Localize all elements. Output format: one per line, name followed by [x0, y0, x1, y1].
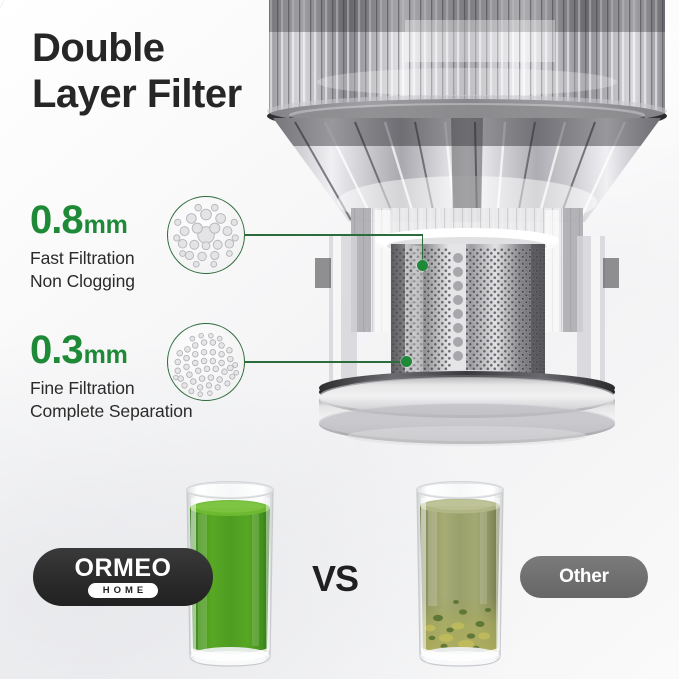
- page-title: Double Layer Filter: [32, 25, 242, 118]
- leader-dot-fine: [401, 356, 412, 367]
- glass-other-juice: [408, 478, 512, 673]
- vs-label: VS: [312, 558, 358, 600]
- spec-block-coarse: 0.8mm Fast Filtration Non Clogging: [30, 200, 135, 293]
- infographic-canvas: Double Layer Filter 0.8mm Fast Filtratio…: [0, 0, 679, 679]
- spec-description-coarse: Fast Filtration Non Clogging: [30, 247, 135, 293]
- brand-badge-ormeo: ORMEO HOME: [33, 548, 213, 606]
- leader-line-coarse-horizontal: [245, 234, 423, 236]
- spec-unit-fine: mm: [84, 343, 128, 368]
- spec-number-coarse: 0.8: [30, 200, 83, 240]
- other-badge-label: Other: [559, 566, 609, 588]
- juicer-filter-product-image: [255, 0, 679, 446]
- spec-description-fine: Fine Filtration Complete Separation: [30, 377, 193, 423]
- brand-name: ORMEO: [75, 556, 172, 581]
- spec-value-coarse: 0.8mm: [30, 200, 135, 240]
- spec-block-fine: 0.3mm Fine Filtration Complete Separatio…: [30, 330, 193, 423]
- spec-unit-coarse: mm: [84, 213, 128, 238]
- leader-dot-coarse: [417, 260, 428, 271]
- brand-subtitle: HOME: [88, 583, 159, 598]
- other-badge: Other: [520, 556, 648, 598]
- leader-line-fine: [245, 361, 410, 363]
- coarse-mesh-icon: [167, 196, 245, 274]
- fine-mesh-icon: [167, 323, 245, 401]
- spec-number-fine: 0.3: [30, 330, 83, 370]
